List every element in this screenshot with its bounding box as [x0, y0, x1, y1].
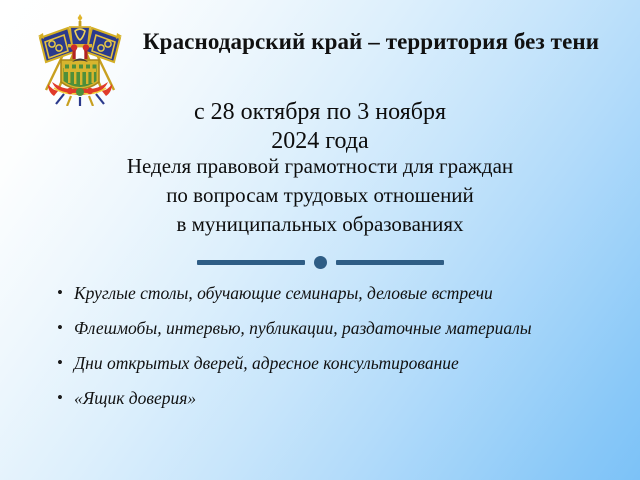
list-item: • Дни открытых дверей, адресное консульт…	[52, 350, 612, 383]
divider-bar-left	[197, 260, 305, 265]
bullet-marker-icon: •	[52, 280, 74, 306]
event-subtitle-line-2: по вопросам трудовых отношений	[40, 181, 600, 210]
list-item-label: «Ящик доверия»	[74, 385, 196, 411]
bullet-marker-icon: •	[52, 350, 74, 376]
list-item: • Флешмобы, интервью, публикации, раздат…	[52, 315, 612, 348]
presentation-slide: Краснодарский край – территория без тени…	[0, 0, 640, 480]
event-subtitle-line-3: в муниципальных образованиях	[40, 210, 600, 239]
bullet-marker-icon: •	[52, 385, 74, 411]
activity-bullet-list: • Круглые столы, обучающие семинары, дел…	[52, 280, 612, 420]
bullet-marker-icon: •	[52, 315, 74, 341]
decorative-divider	[0, 254, 640, 270]
list-item: • «Ящик доверия»	[52, 385, 612, 418]
list-item-label: Флешмобы, интервью, публикации, раздаточ…	[74, 315, 532, 341]
list-item: • Круглые столы, обучающие семинары, дел…	[52, 280, 612, 313]
slide-title: Краснодарский край – территория без тени	[130, 28, 612, 56]
event-subtitle-block: Неделя правовой грамотности для граждан …	[40, 152, 600, 239]
divider-bar-right	[336, 260, 444, 265]
event-date-block: с 28 октября по 3 ноября 2024 года	[70, 98, 570, 156]
event-date-line-1: с 28 октября по 3 ноября	[70, 98, 570, 127]
divider-dot-icon	[314, 256, 327, 269]
list-item-label: Круглые столы, обучающие семинары, делов…	[74, 280, 493, 306]
event-subtitle-line-1: Неделя правовой грамотности для граждан	[40, 152, 600, 181]
coat-of-arms-emblem-icon	[34, 12, 126, 106]
list-item-label: Дни открытых дверей, адресное консультир…	[74, 350, 459, 376]
